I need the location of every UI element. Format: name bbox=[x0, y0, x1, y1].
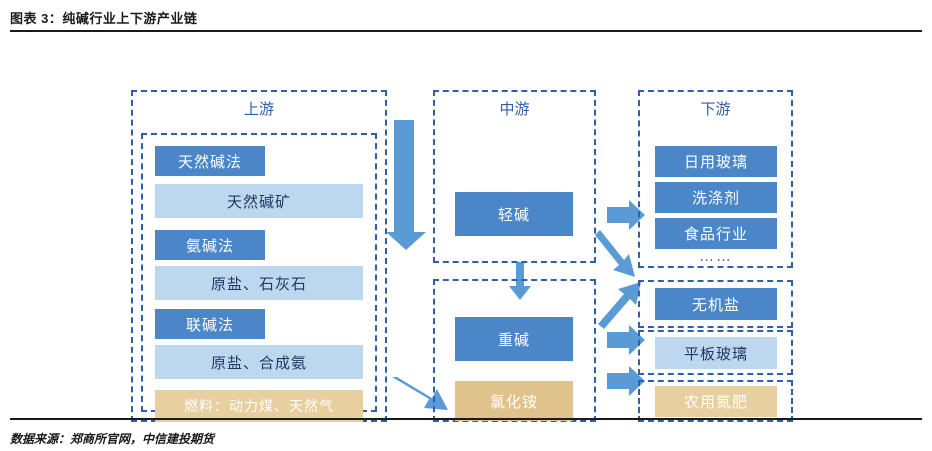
downstream-inorganic-salt[interactable]: 无机盐 bbox=[655, 288, 777, 320]
group-midstream-label: 中游 bbox=[433, 98, 596, 119]
midstream-ammonium-chloride[interactable]: 氯化铵 bbox=[455, 381, 573, 421]
upstream-material-salt-limestone[interactable]: 原盐、石灰石 bbox=[155, 266, 363, 300]
midstream-heavy-soda[interactable]: 重碱 bbox=[455, 317, 573, 361]
downstream-food-industry[interactable]: 食品行业 bbox=[655, 218, 777, 249]
source-note: 数据来源：郑商所官网，中信建投期货 bbox=[10, 430, 214, 447]
divider-bottom bbox=[10, 418, 922, 420]
diagram-canvas: 上游 中游 下游 天然碱法 天然碱矿 氨碱法 原盐、石灰石 联碱法 原盐、合成氨… bbox=[0, 32, 932, 418]
upstream-method-combined-soda[interactable]: 联碱法 bbox=[155, 309, 265, 339]
downstream-daily-glass[interactable]: 日用玻璃 bbox=[655, 146, 777, 177]
downstream-flat-glass[interactable]: 平板玻璃 bbox=[655, 337, 777, 369]
downstream-detergent[interactable]: 洗涤剂 bbox=[655, 182, 777, 213]
downstream-ellipsis: …… bbox=[655, 248, 777, 265]
midstream-light-soda[interactable]: 轻碱 bbox=[455, 192, 573, 236]
group-downstream-label: 下游 bbox=[638, 98, 793, 119]
upstream-material-natural-soda-ore[interactable]: 天然碱矿 bbox=[155, 184, 363, 218]
page-title: 图表 3：纯碱行业上下游产业链 bbox=[10, 8, 197, 27]
upstream-material-salt-ammonia[interactable]: 原盐、合成氨 bbox=[155, 345, 363, 379]
downstream-nitrogen-fertilizer[interactable]: 农用氮肥 bbox=[655, 386, 777, 417]
upstream-method-ammonia-soda[interactable]: 氨碱法 bbox=[155, 230, 265, 260]
upstream-method-natural-soda[interactable]: 天然碱法 bbox=[155, 146, 265, 176]
group-upstream-label: 上游 bbox=[131, 98, 387, 119]
